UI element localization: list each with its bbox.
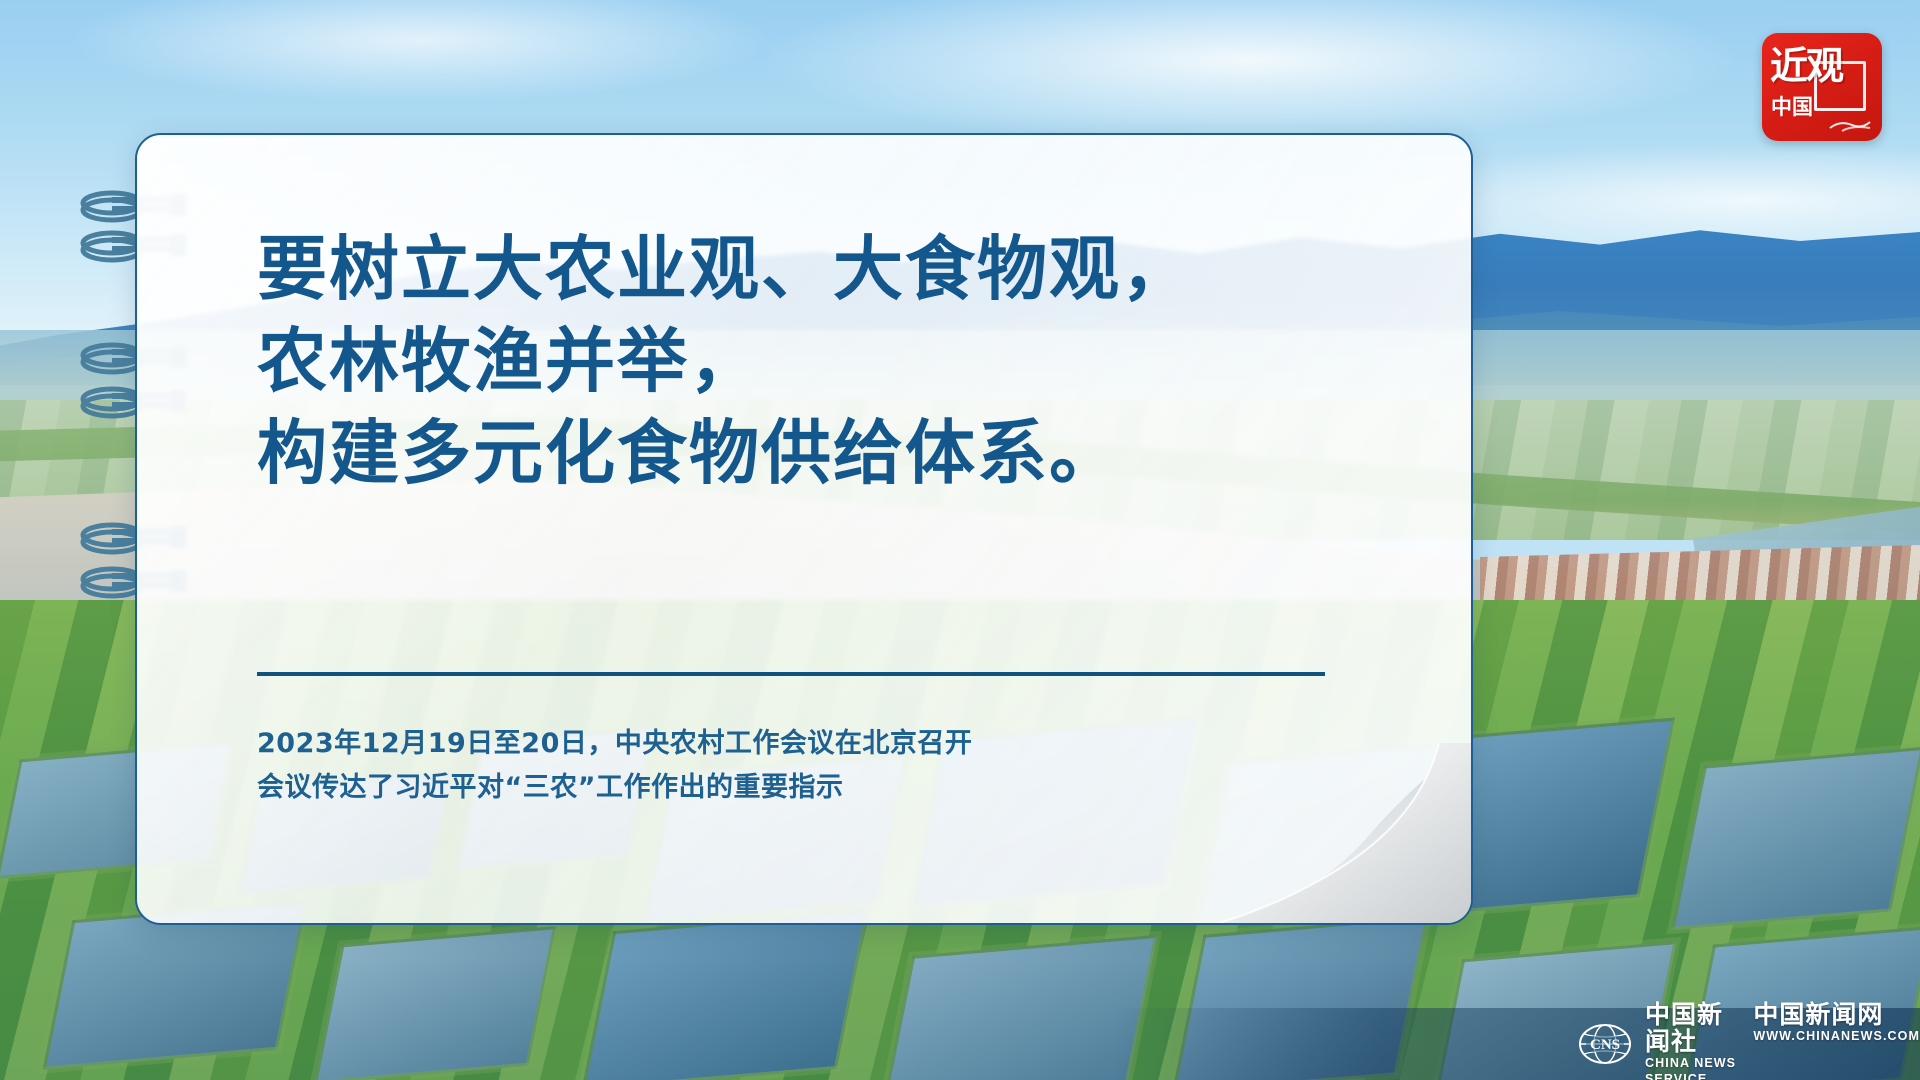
headline-quote: 要树立大农业观、大食物观， 农林牧渔并举， 构建多元化食物供给体系。 [257, 223, 1377, 499]
cns-site-url: WWW.CHINANEWS.COM [1753, 1028, 1920, 1044]
cns-site-block: 中国新闻网 WWW.CHINANEWS.COM [1753, 1001, 1920, 1044]
logo-primary-text: 近观 [1770, 46, 1874, 86]
cns-globe-icon: CNS [1578, 1023, 1632, 1065]
caption-text: 2023年12月19日至20日，中央农村工作会议在北京召开 会议传达了习近平对“… [257, 722, 1357, 810]
cns-agency-name-en: CHINA NEWS SERVICE [1645, 1055, 1737, 1080]
svg-text:CNS: CNS [1590, 1037, 1620, 1053]
cns-agency-block: 中国新闻社 CHINA NEWS SERVICE [1645, 1001, 1737, 1080]
cns-agency-name-cn: 中国新闻社 [1645, 1001, 1737, 1055]
headline-divider [257, 672, 1325, 676]
cns-site-name-cn: 中国新闻网 [1753, 1001, 1920, 1028]
logo-cloud-swoosh-icon [1828, 116, 1872, 132]
cns-branding: CNS 中国新闻社 CHINA NEWS SERVICE 中国新闻网 WWW.C… [1578, 1016, 1920, 1072]
quote-note-card: 要树立大农业观、大食物观， 农林牧渔并举， 构建多元化食物供给体系。 2023年… [135, 133, 1473, 925]
jinguan-zhongguo-logo[interactable]: 近观 中国 [1762, 33, 1882, 141]
logo-secondary-text: 中国 [1771, 91, 1813, 121]
